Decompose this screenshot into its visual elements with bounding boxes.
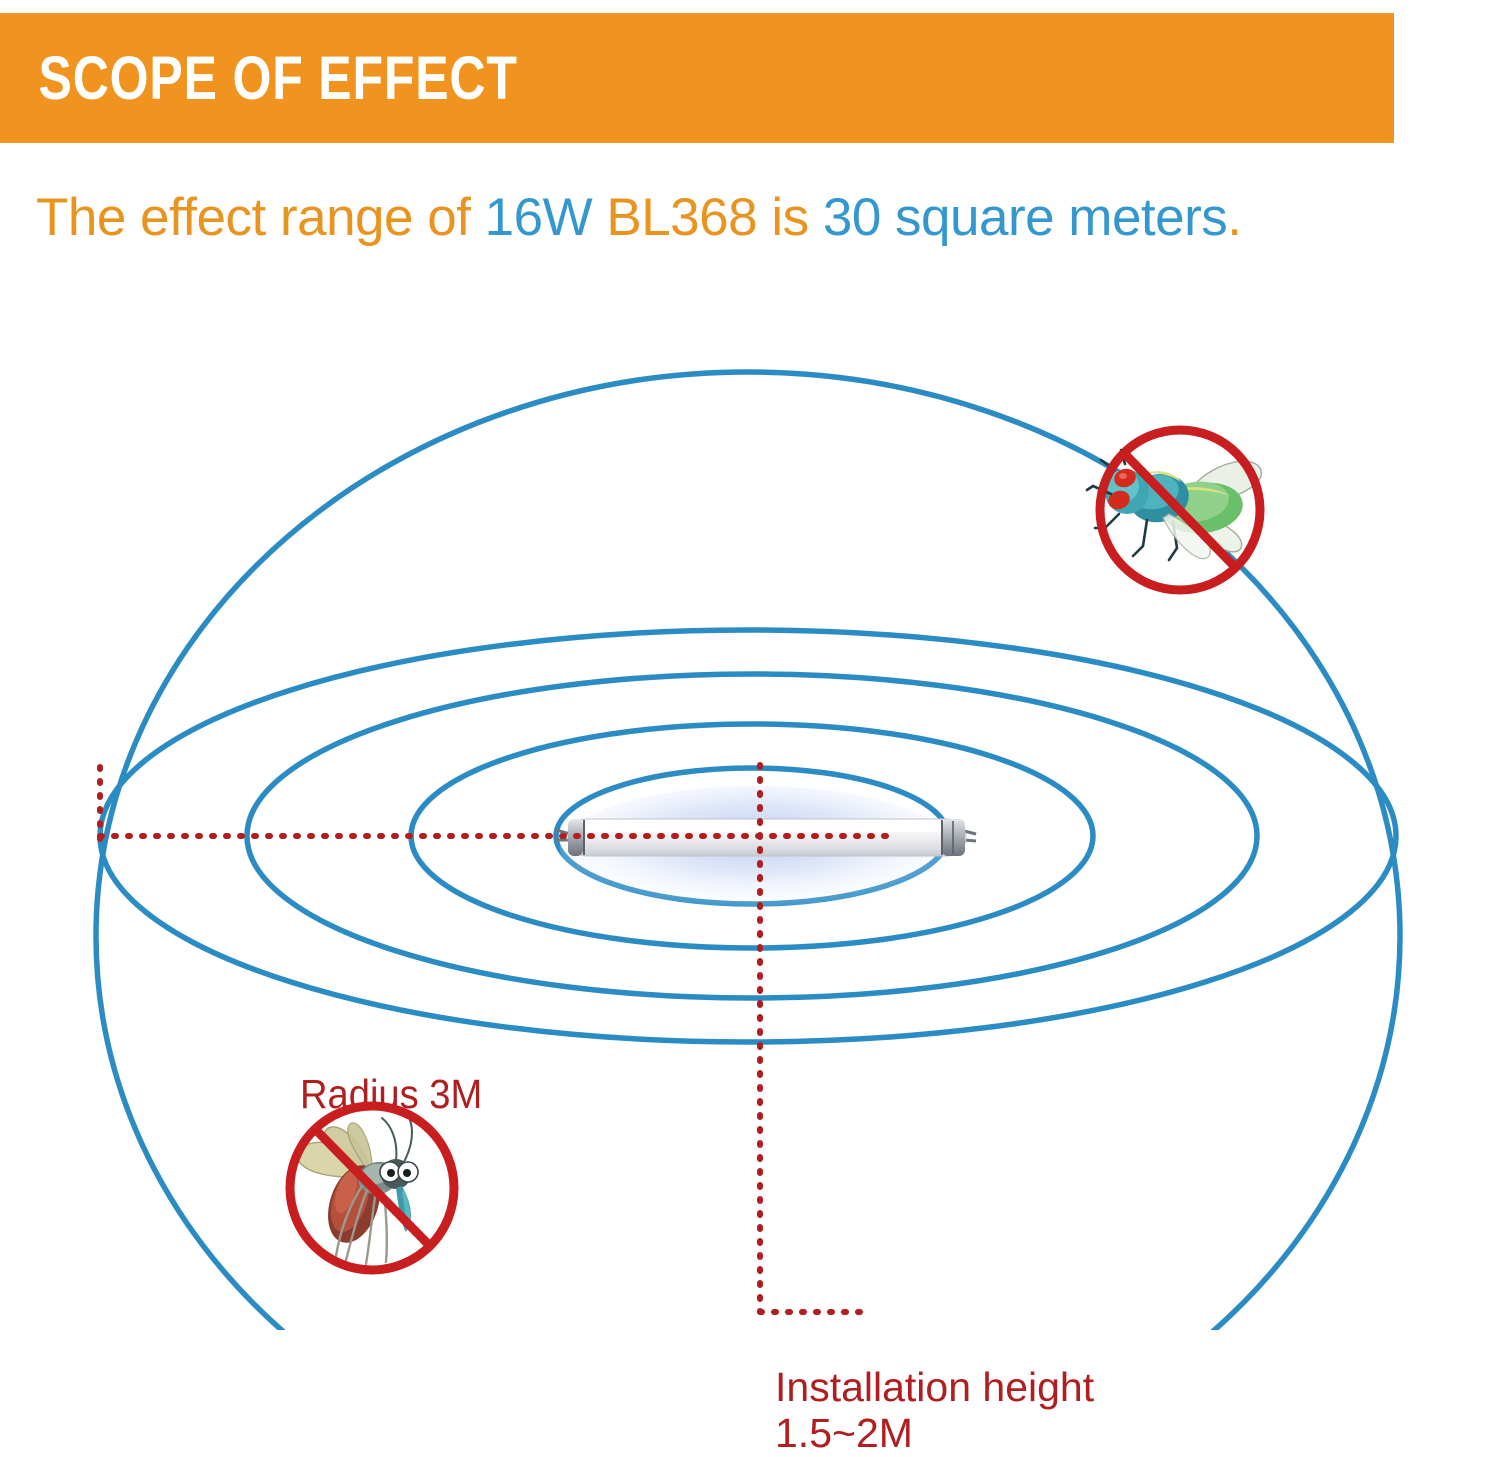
fly-icon bbox=[1085, 424, 1275, 596]
prohibition-sign-icon bbox=[290, 1106, 454, 1270]
subtitle-segment-4: 30 square meters bbox=[823, 188, 1227, 247]
installation-height-label: Installation height 1.5~2M bbox=[775, 1365, 1094, 1457]
subtitle-segment-5: . bbox=[1227, 188, 1241, 247]
page-title: SCOPE OF EFFECT bbox=[0, 48, 518, 109]
header-banner: SCOPE OF EFFECT bbox=[0, 13, 1394, 143]
mosquito-icon bbox=[272, 1092, 472, 1277]
subtitle-line: The effect range of 16W BL368 is 30 squa… bbox=[36, 190, 1476, 246]
subtitle-segment-3: BL368 is bbox=[606, 188, 822, 247]
lamp-body bbox=[568, 819, 966, 856]
subtitle-segment-1: The effect range of bbox=[36, 188, 485, 247]
subtitle-segment-2: 16W bbox=[485, 188, 607, 247]
